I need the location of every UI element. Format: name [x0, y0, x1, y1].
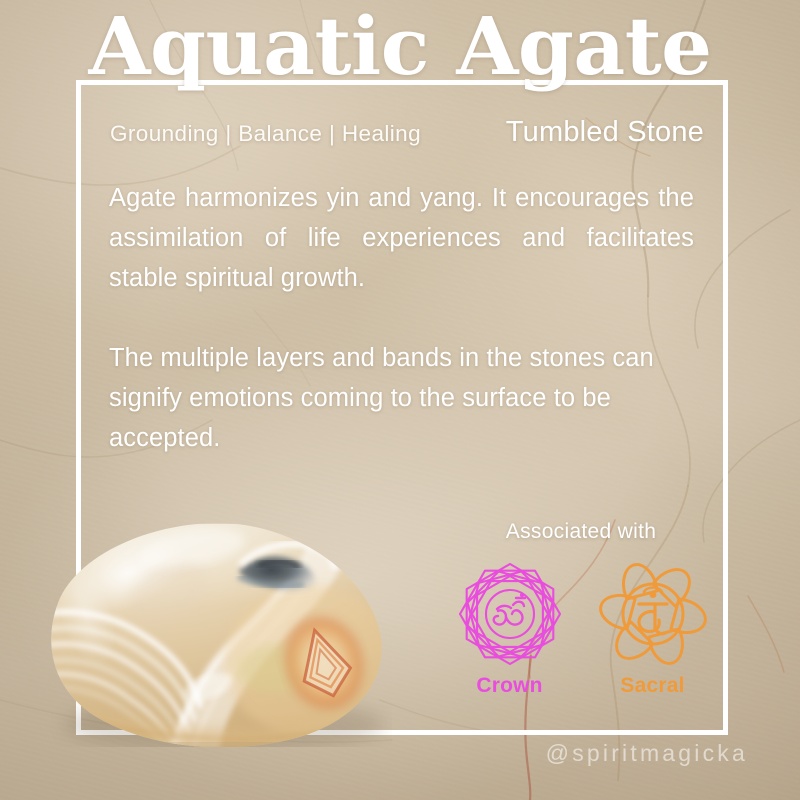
associated-chakras-section: Associated with: [438, 520, 724, 698]
chakra-item-crown: Crown: [452, 558, 567, 698]
product-info-card: Aquatic Agate Grounding | Balance | Heal…: [0, 0, 800, 800]
chakra-label-crown: Crown: [452, 674, 567, 698]
crown-chakra-icon: [454, 558, 566, 670]
associated-with-label: Associated with: [438, 520, 724, 544]
chakra-item-sacral: Sacral: [595, 558, 710, 698]
sacral-chakra-icon: [597, 558, 709, 670]
chakra-label-sacral: Sacral: [595, 674, 710, 698]
watermark: @spiritmagicka: [546, 740, 748, 767]
chakra-list: Crown: [438, 558, 724, 698]
description-block: Agate harmonizes yin and yang. It encour…: [109, 178, 694, 458]
product-type-label: Tumbled Stone: [506, 116, 704, 149]
description-paragraph-1: Agate harmonizes yin and yang. It encour…: [109, 178, 694, 298]
page-title: Aquatic Agate: [0, 6, 800, 86]
subtitle-row: Grounding | Balance | Healing Tumbled St…: [110, 116, 704, 150]
description-paragraph-2: The multiple layers and bands in the sto…: [109, 338, 694, 458]
keywords-text: Grounding | Balance | Healing: [110, 121, 421, 147]
